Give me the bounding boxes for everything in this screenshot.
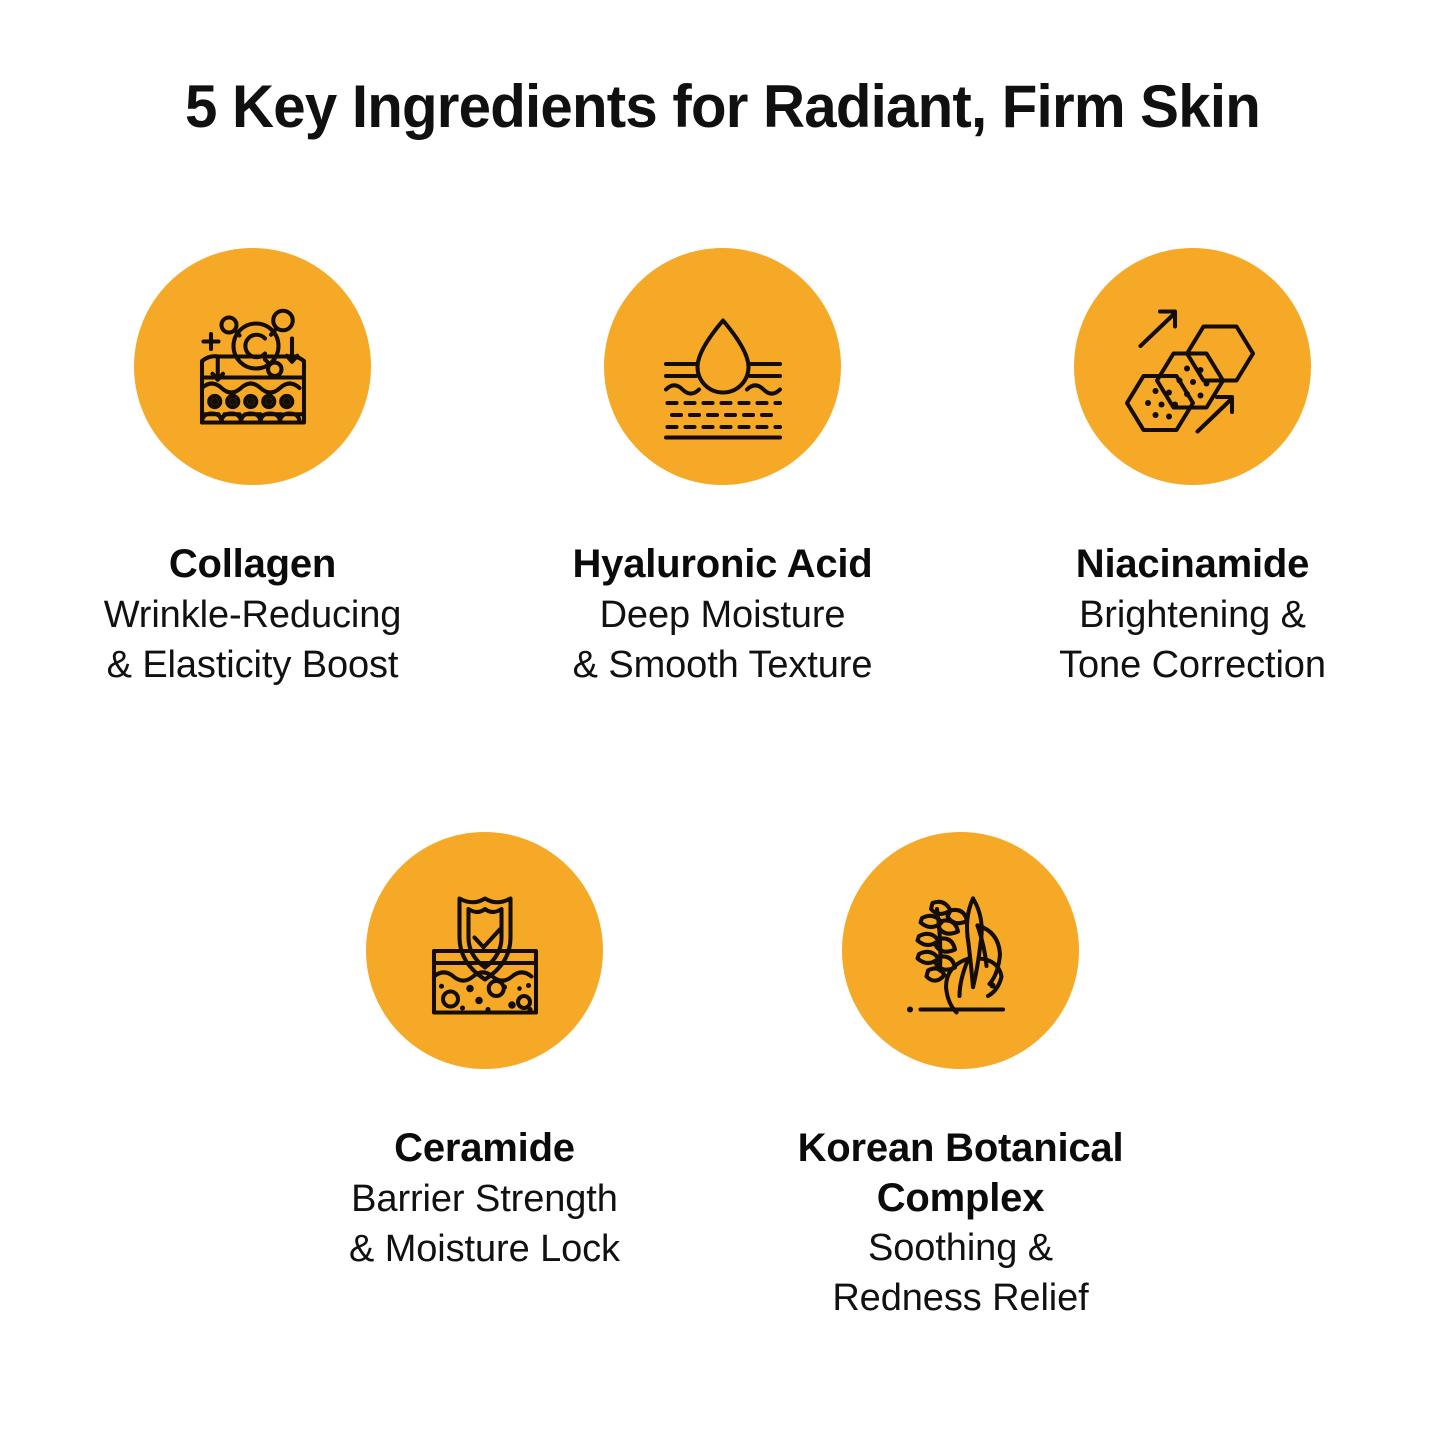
- ingredient-text-ceramide: Ceramide Barrier Strength & Moisture Loc…: [247, 1124, 723, 1274]
- ingredient-text-korean-botanical-complex: Korean Botanical Complex Soothing & Redn…: [723, 1124, 1199, 1324]
- ingredient-text-hyaluronic-acid: Hyaluronic Acid Deep Moisture & Smooth T…: [488, 540, 958, 690]
- page-title: 5 Key Ingredients for Radiant, Firm Skin: [22, 74, 1424, 140]
- ingredient-description: Brightening & Tone Correction: [958, 590, 1428, 690]
- description-line: Brightening &: [958, 590, 1428, 640]
- ingredient-text-niacinamide: Niacinamide Brightening & Tone Correctio…: [958, 540, 1428, 690]
- ingredient-description: Barrier Strength & Moisture Lock: [247, 1174, 723, 1274]
- ingredient-name: Ceramide: [247, 1124, 723, 1174]
- description-line: Redness Relief: [723, 1273, 1199, 1323]
- ingredient-name: Korean Botanical Complex: [723, 1124, 1199, 1223]
- ingredient-card-collagen: Collagen Wrinkle-Reducing & Elasticity B…: [18, 248, 488, 690]
- ingredient-card-niacinamide: Niacinamide Brightening & Tone Correctio…: [958, 248, 1428, 690]
- infographic-page: 5 Key Ingredients for Radiant, Firm Skin: [0, 0, 1445, 1445]
- description-line: Soothing &: [723, 1223, 1199, 1273]
- description-line: Wrinkle-Reducing: [18, 590, 488, 640]
- skin-layers-collagen-molecule-icon: [134, 248, 371, 485]
- ingredient-row-top: Collagen Wrinkle-Reducing & Elasticity B…: [0, 248, 1445, 690]
- ingredient-description: Wrinkle-Reducing & Elasticity Boost: [18, 590, 488, 690]
- botanical-herb-plant-icon: [842, 832, 1079, 1069]
- description-line: & Smooth Texture: [488, 640, 958, 690]
- shield-check-skin-barrier-icon: [366, 832, 603, 1069]
- ingredient-name: Niacinamide: [958, 540, 1428, 590]
- description-line: Tone Correction: [958, 640, 1428, 690]
- honeycomb-hexagons-arrows-icon: [1074, 248, 1311, 485]
- ingredient-card-hyaluronic-acid: Hyaluronic Acid Deep Moisture & Smooth T…: [488, 248, 958, 690]
- description-line: Barrier Strength: [247, 1174, 723, 1224]
- ingredient-row-bottom: Ceramide Barrier Strength & Moisture Loc…: [0, 832, 1445, 1324]
- ingredient-name: Hyaluronic Acid: [488, 540, 958, 590]
- description-line: & Elasticity Boost: [18, 640, 488, 690]
- ingredient-description: Deep Moisture & Smooth Texture: [488, 590, 958, 690]
- description-line: & Moisture Lock: [247, 1224, 723, 1274]
- ingredient-name: Collagen: [18, 540, 488, 590]
- water-droplet-skin-hydration-icon: [604, 248, 841, 485]
- ingredient-text-collagen: Collagen Wrinkle-Reducing & Elasticity B…: [18, 540, 488, 690]
- ingredient-description: Soothing & Redness Relief: [723, 1223, 1199, 1323]
- ingredient-card-korean-botanical-complex: Korean Botanical Complex Soothing & Redn…: [723, 832, 1199, 1324]
- description-line: Deep Moisture: [488, 590, 958, 640]
- ingredient-card-ceramide: Ceramide Barrier Strength & Moisture Loc…: [247, 832, 723, 1324]
